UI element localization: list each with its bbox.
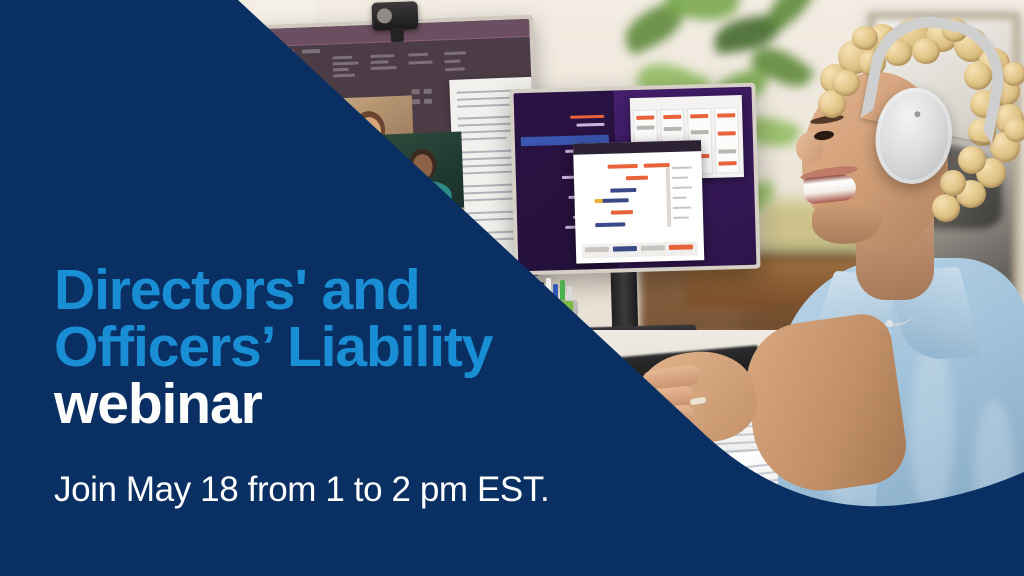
monitor-stand xyxy=(611,272,639,329)
event-datetime-text: Join May 18 from 1 to 2 pm EST. xyxy=(54,471,614,509)
participant-tile xyxy=(383,132,464,213)
page-title: Directors' and Officers’ Liability webin… xyxy=(54,262,614,433)
gantt-chart-window xyxy=(573,140,704,264)
monitor-video-conference xyxy=(253,15,543,291)
monitor-project-dashboard xyxy=(509,83,760,276)
banner-copy: Directors' and Officers’ Liability webin… xyxy=(54,262,614,509)
headline-line-1: Directors' and xyxy=(54,258,420,322)
arm xyxy=(739,310,911,499)
headline-line-2: Officers’ Liability xyxy=(54,315,492,379)
webcam-icon xyxy=(372,1,419,31)
webinar-promo-banner: Directors' and Officers’ Liability webin… xyxy=(0,0,1024,576)
headline-line-3: webinar xyxy=(54,372,262,436)
woman-with-headphones xyxy=(760,0,1024,576)
